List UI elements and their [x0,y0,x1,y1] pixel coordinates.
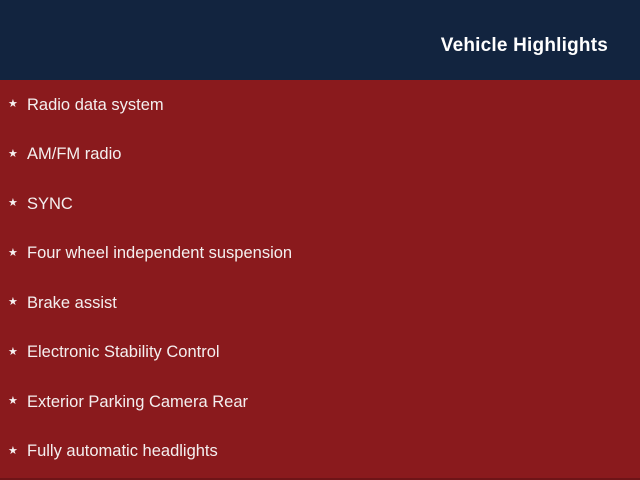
slide-body: ★ Radio data system ★ AM/FM radio ★ SYNC… [0,80,640,478]
star-icon: ★ [8,446,27,457]
star-icon: ★ [8,396,27,407]
list-item: ★ Fully automatic headlights [0,427,640,477]
star-icon: ★ [8,347,27,358]
vehicle-highlights-slide: Vehicle Highlights ★ Radio data system ★… [0,0,640,480]
list-item: ★ Brake assist [0,278,640,328]
slide-header: Vehicle Highlights [0,0,640,80]
list-item: ★ AM/FM radio [0,130,640,180]
star-icon: ★ [8,198,27,209]
list-item-label: Electronic Stability Control [27,343,220,361]
list-item-label: Radio data system [27,96,164,114]
star-icon: ★ [8,99,27,110]
star-icon: ★ [8,297,27,308]
list-item-label: Exterior Parking Camera Rear [27,393,248,411]
list-item: ★ Radio data system [0,80,640,130]
star-icon: ★ [8,149,27,160]
list-item: ★ Electronic Stability Control [0,328,640,378]
list-item-label: Fully automatic headlights [27,442,218,460]
list-item-label: SYNC [27,195,73,213]
vehicle-highlights-list: ★ Radio data system ★ AM/FM radio ★ SYNC… [0,80,640,476]
star-icon: ★ [8,248,27,259]
list-item-label: AM/FM radio [27,145,121,163]
list-item-label: Brake assist [27,294,117,312]
list-item: ★ SYNC [0,179,640,229]
list-item: ★ Exterior Parking Camera Rear [0,377,640,427]
list-item: ★ Four wheel independent suspension [0,229,640,279]
page-title: Vehicle Highlights [441,36,640,55]
list-item-label: Four wheel independent suspension [27,244,292,262]
